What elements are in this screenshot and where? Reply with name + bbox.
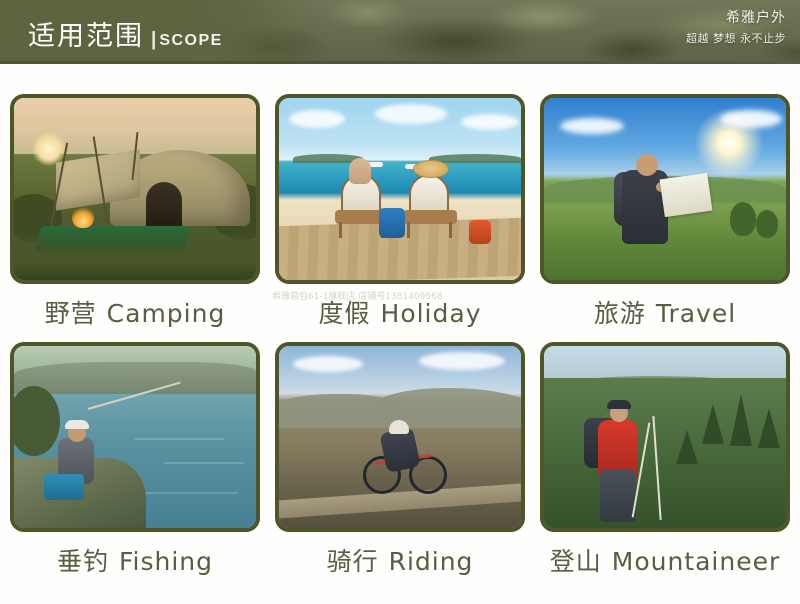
caption-en: Travel bbox=[656, 299, 736, 328]
travel-card[interactable] bbox=[540, 94, 790, 284]
caption-en: Riding bbox=[389, 547, 474, 576]
far-shoreline bbox=[14, 362, 256, 394]
lake-angler-photo bbox=[14, 346, 256, 528]
tree-shape bbox=[756, 210, 778, 238]
orange-bag bbox=[469, 220, 491, 244]
angler-cap bbox=[65, 420, 89, 429]
brand-slogan: 超越 梦想 永不止步 bbox=[686, 30, 786, 46]
scope-item-fishing[interactable]: 垂钓Fishing bbox=[10, 342, 260, 578]
conifer-tree bbox=[676, 430, 698, 464]
brand-block: 希雅户外 超越 梦想 永不止步 bbox=[686, 7, 786, 46]
caption-en: Camping bbox=[107, 299, 226, 328]
brand-name: 希雅户外 bbox=[686, 7, 786, 27]
cyclist-helmet bbox=[389, 420, 409, 434]
water-ripple bbox=[164, 462, 244, 464]
conifer-tree bbox=[758, 408, 780, 448]
climber-legs bbox=[600, 470, 636, 522]
caption-riding: 骑行Riding bbox=[275, 542, 525, 578]
caption-cn: 垂钓 bbox=[57, 547, 109, 576]
chair-leg bbox=[339, 222, 342, 238]
title-separator: | bbox=[151, 29, 156, 51]
grass-foreground bbox=[14, 234, 256, 280]
conifer-tree bbox=[730, 394, 752, 446]
cloud-shape bbox=[461, 114, 519, 130]
campfire-glow bbox=[72, 206, 94, 228]
chair-leg bbox=[449, 222, 452, 238]
tackle-box bbox=[44, 474, 84, 500]
cloud-shape bbox=[560, 118, 624, 134]
page-title: 适用范围 | SCOPE bbox=[28, 14, 223, 53]
page-header-banner: 适用范围 | SCOPE 希雅户外 超越 梦想 永不止步 bbox=[0, 0, 800, 64]
caption-cn: 骑行 bbox=[327, 547, 379, 576]
camping-card[interactable] bbox=[10, 94, 260, 284]
tent-door-shape bbox=[146, 182, 182, 228]
cloud-shape bbox=[375, 104, 447, 124]
caption-camping: 野营Camping bbox=[10, 294, 260, 330]
holiday-card[interactable] bbox=[275, 94, 525, 284]
scope-item-travel[interactable]: 旅游Travel bbox=[540, 94, 790, 330]
water-ripple bbox=[134, 438, 224, 440]
caption-cn: 登山 bbox=[550, 547, 602, 576]
hiker-with-map-photo bbox=[544, 98, 786, 280]
page-title-en: SCOPE bbox=[159, 32, 223, 50]
riding-card[interactable] bbox=[275, 342, 525, 532]
hiker-head bbox=[636, 154, 658, 176]
caption-en: Holiday bbox=[381, 299, 482, 328]
conifer-tree bbox=[702, 404, 724, 444]
caption-fishing: 垂钓Fishing bbox=[10, 542, 260, 578]
tree-shape bbox=[730, 202, 756, 236]
scope-item-camping[interactable]: 野营Camping bbox=[10, 94, 260, 330]
caption-en: Mountaineer bbox=[612, 547, 781, 576]
camping-tent-photo bbox=[14, 98, 256, 280]
scope-item-riding[interactable]: 骑行Riding bbox=[275, 342, 525, 578]
straw-hat bbox=[413, 160, 449, 178]
blue-backpack bbox=[379, 208, 405, 238]
climber-cap bbox=[607, 400, 631, 409]
shop-watermark: 希雅箱包61-1旗舰店 店铺号1381409568 bbox=[272, 289, 452, 301]
cloud-shape bbox=[293, 356, 363, 372]
caption-en: Fishing bbox=[119, 547, 213, 576]
chair-leg bbox=[407, 222, 410, 238]
page-title-cn: 适用范围 bbox=[28, 14, 144, 53]
scope-row: 垂钓Fishing bbox=[0, 342, 800, 578]
mountain-climber-photo bbox=[544, 346, 786, 528]
caption-cn: 度假 bbox=[319, 299, 371, 328]
caption-mountaineer: 登山Mountaineer bbox=[540, 542, 790, 578]
scope-grid: 野营Camping bbox=[0, 64, 800, 578]
sunbather-figure bbox=[349, 158, 371, 184]
scope-item-mountaineer[interactable]: 登山Mountaineer bbox=[540, 342, 790, 578]
beach-chairs-photo bbox=[279, 98, 521, 280]
fishing-card[interactable] bbox=[10, 342, 260, 532]
cloud-shape bbox=[720, 110, 782, 128]
caption-travel: 旅游Travel bbox=[540, 294, 790, 330]
cloud-shape bbox=[289, 110, 345, 128]
mountaineer-card[interactable] bbox=[540, 342, 790, 532]
cloud-shape bbox=[419, 352, 505, 370]
mountain-biker-photo bbox=[279, 346, 521, 528]
paper-map bbox=[660, 173, 713, 217]
caption-cn: 旅游 bbox=[594, 299, 646, 328]
beach-chair bbox=[403, 174, 459, 236]
chair-back bbox=[409, 174, 449, 214]
caption-cn: 野营 bbox=[45, 299, 97, 328]
